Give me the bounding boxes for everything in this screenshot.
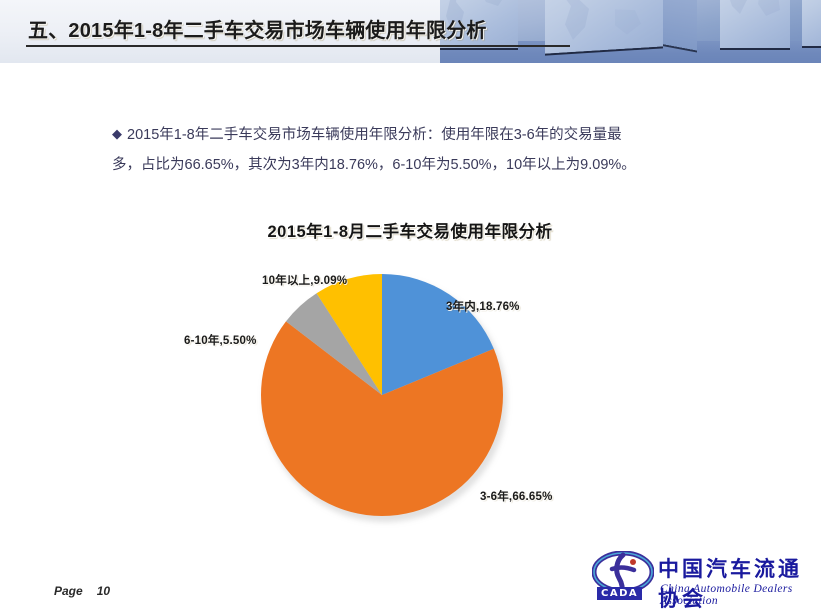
logo-name-en: China Automobile Dealers Association <box>660 583 814 607</box>
page-label: Page <box>54 584 83 598</box>
summary-line-1: ◆2015年1-8年二手车交易市场车辆使用年限分析：使用年限在3-6年的交易量最 <box>112 120 722 150</box>
pie-label-3nian: 3年内,18.76% <box>446 298 520 314</box>
cada-logo: CADA 中国汽车流通协会 China Automobile Dealers A… <box>592 549 814 607</box>
title-container: 五、2015年1-8年二手车交易市场车辆使用年限分析 <box>0 0 700 63</box>
pie-chart: 2015年1-8月二手车交易使用年限分析 3年内,18.76% 3-6年,66.… <box>150 210 670 540</box>
summary-text-1: 2015年1-8年二手车交易市场车辆使用年限分析：使用年限在3-6年的交易量最 <box>127 127 622 143</box>
pie-label-6-10nian: 6-10年,5.50% <box>184 332 257 348</box>
page-title: 五、2015年1-8年二手车交易市场车辆使用年限分析 <box>28 14 487 43</box>
slide-header-band: 五、2015年1-8年二手车交易市场车辆使用年限分析 <box>0 0 821 63</box>
world-map-icon <box>720 0 790 48</box>
pie-label-3-6nian: 3-6年,66.65% <box>480 488 553 504</box>
title-underline <box>26 45 570 47</box>
footer-page-indicator: Page10 <box>54 584 110 598</box>
decorative-cube-4 <box>802 0 821 46</box>
diamond-bullet-icon: ◆ <box>112 126 122 141</box>
cada-wordmark: CADA <box>597 587 642 600</box>
summary-line-2: 多，占比为66.65%，其次为3年内18.76%，6-10年为5.50%，10年… <box>112 150 722 180</box>
page-number: 10 <box>97 584 110 598</box>
decorative-cube-3 <box>720 0 790 48</box>
summary-paragraph: ◆2015年1-8年二手车交易市场车辆使用年限分析：使用年限在3-6年的交易量最… <box>112 120 722 180</box>
slide-canvas: 五、2015年1-8年二手车交易市场车辆使用年限分析 ◆2015年1-8年二手车… <box>0 0 821 613</box>
pie-label-10nian-yishang: 10年以上,9.09% <box>262 272 347 288</box>
chart-title: 2015年1-8月二手车交易使用年限分析 <box>150 218 670 242</box>
